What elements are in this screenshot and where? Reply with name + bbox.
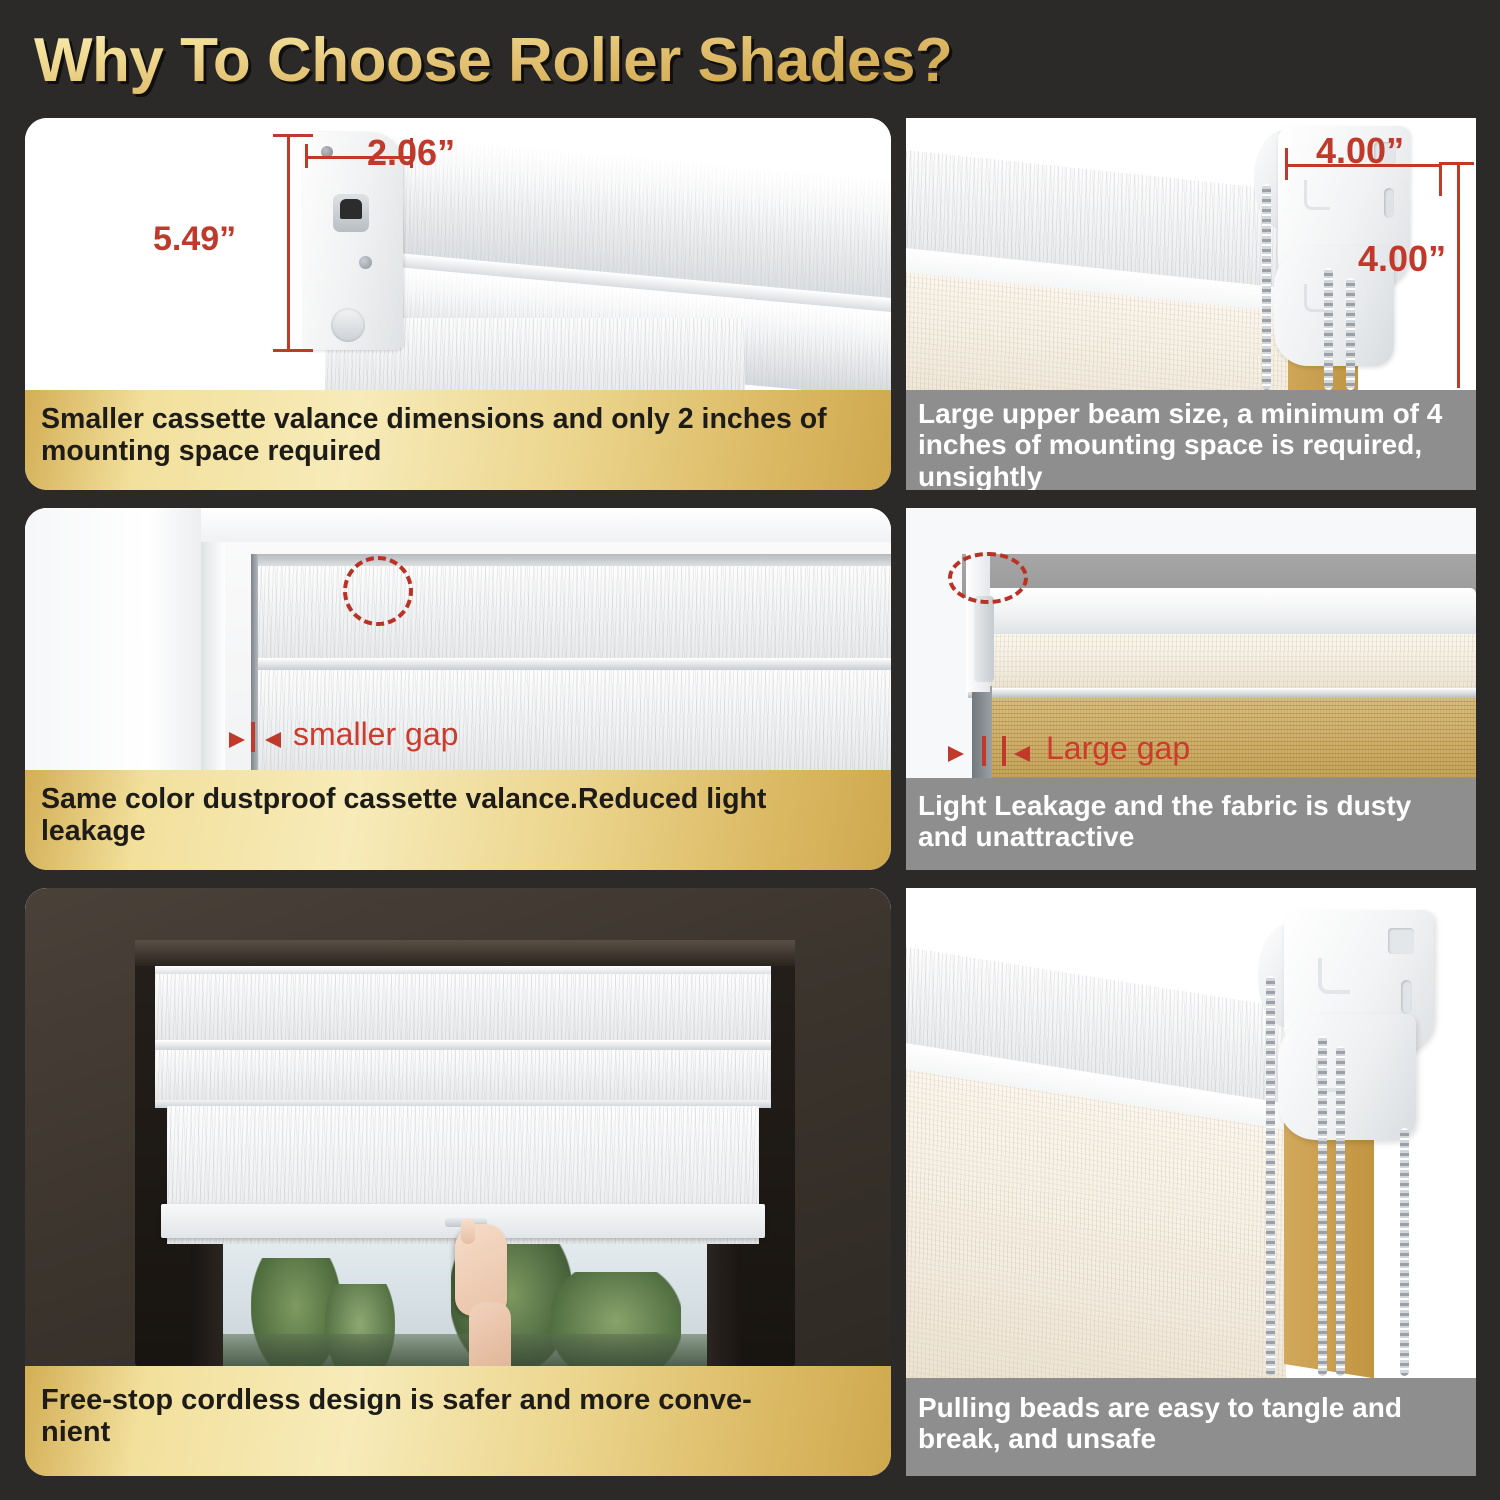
photo-large-beam: 4.00” 4.00” [906, 118, 1476, 390]
panel-large-gap: Large gap Light Leakage and the fabric i… [906, 508, 1476, 870]
bead-chain-left [1262, 184, 1271, 390]
panel-smaller-gap: smaller gap Same color dustproof cassett… [25, 508, 891, 870]
window-frame-top [201, 508, 891, 542]
bead-chain-right [1346, 278, 1355, 390]
panel-caption-large-beam: Large upper beam size, a minimum of 4 in… [906, 390, 1476, 490]
panel-pulling-beads: Pulling beads are easy to tangle and bre… [906, 888, 1476, 1476]
panel-caption-cordless: Free-stop cordless design is safer and m… [25, 1366, 891, 1476]
height-dim-line [287, 134, 290, 352]
width-dim-tick-left [305, 144, 308, 168]
panel-caption-pulling-beads: Pulling beads are easy to tangle and bre… [906, 1378, 1476, 1476]
photo-cassette-valance: 5.49” 2.06” [25, 118, 891, 390]
cassette-bottom-lip [257, 658, 891, 670]
mounting-bracket-lower [1278, 1014, 1416, 1140]
panel-cordless-design: Free-stop cordless design is safer and m… [25, 888, 891, 1476]
photo-large-gap: Large gap [906, 508, 1476, 778]
beam-width-tick-right [1439, 162, 1442, 196]
window-reveal-top [135, 940, 795, 966]
photo-cordless-window [25, 888, 891, 1366]
cream-fabric-band [968, 634, 1476, 692]
beam-height-tick-top [1442, 162, 1474, 165]
highlight-circle-icon [343, 556, 413, 626]
fabric-edge-line [968, 688, 1476, 698]
gap-arrow-right-icon [265, 732, 281, 748]
infographic-root: Why To Choose Roller Shades? Why To Choo… [0, 0, 1500, 1500]
height-dim-tick-top [273, 134, 313, 137]
panel-cassette-dimensions: 5.49” 2.06” Smaller cassette valance dim… [25, 118, 891, 490]
bead-chain-4 [1400, 1128, 1409, 1376]
beam-width-label: 4.00” [1316, 130, 1404, 172]
gap-arrow-left-icon [948, 746, 964, 762]
bracket-pin [974, 596, 994, 682]
beam-height-dim-line [1457, 162, 1460, 388]
photo-smaller-gap: smaller gap [25, 508, 891, 770]
bracket-slot [333, 194, 369, 232]
page-title: Why To Choose Roller Shades? [34, 22, 1074, 100]
bead-chain-1 [1266, 976, 1275, 1376]
bracket-screw-middle [359, 256, 372, 269]
photo-pulling-beads [906, 888, 1476, 1378]
valance-roll-face [155, 1050, 771, 1104]
bead-chain-2 [1318, 1036, 1327, 1376]
beam-width-tick-left [1285, 148, 1288, 180]
valance-face [155, 974, 771, 1044]
height-dim-tick-bottom [273, 349, 313, 352]
beam-height-label: 4.00” [1358, 238, 1446, 280]
hand-wrist [469, 1302, 511, 1366]
caption-line-1: Free-stop cordless design is safer and m… [41, 1384, 752, 1416]
caption-line-2: nient [41, 1416, 110, 1448]
gap-tick [251, 722, 255, 752]
panel-large-beam: 4.00” 4.00” Large upper beam size, a min… [906, 118, 1476, 490]
window-frame-left [25, 508, 201, 770]
window-frame-edge [201, 508, 225, 770]
panel-caption-cassette: Smaller cassette valance dimensions and … [25, 390, 891, 490]
width-dimension-label: 2.06” [367, 132, 455, 174]
highlight-circle-icon [948, 552, 1028, 604]
large-gap-label: Large gap [1046, 730, 1190, 767]
panel-caption-large-gap: Light Leakage and the fabric is dusty an… [906, 778, 1476, 870]
bead-chain-mid [1324, 268, 1333, 390]
gap-arrow-right-icon [1014, 746, 1030, 762]
gap-arrow-left-icon [229, 732, 245, 748]
smaller-gap-label: smaller gap [293, 716, 458, 753]
gap-tick-left [982, 736, 986, 766]
gap-tick-right [1002, 736, 1006, 766]
bead-chain-3 [1336, 1046, 1345, 1376]
panel-caption-smaller-gap: Same color dustproof cassette valance.Re… [25, 770, 891, 870]
height-dimension-label: 5.49” [153, 220, 236, 259]
bracket-knob [331, 308, 365, 342]
hand-finger [461, 1218, 475, 1244]
